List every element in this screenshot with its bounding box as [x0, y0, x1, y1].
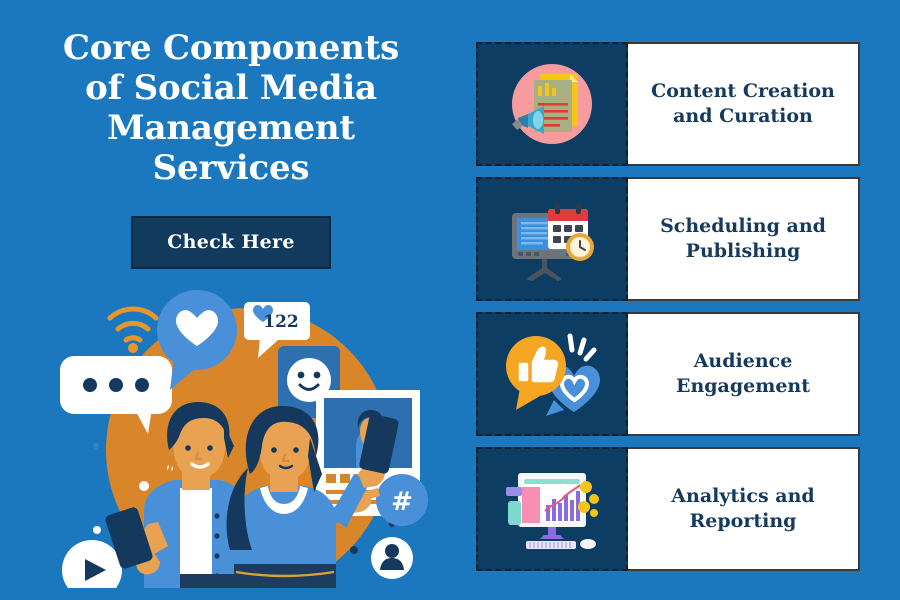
card-label-line-1: Scheduling and: [660, 215, 826, 237]
card-label-line-1: Content Creation: [651, 80, 835, 102]
analytics-dashboard-icon: [476, 447, 628, 571]
mouse-icon: [580, 539, 596, 549]
hashtag-label: #: [391, 487, 413, 517]
side-block-purple: [506, 487, 522, 496]
left-column: Core Components of Social Media Manageme…: [0, 0, 462, 600]
page-title-line-2: of Social Media: [24, 68, 438, 108]
user-profile-circle-icon: [371, 537, 413, 579]
like-count-label: 122: [263, 312, 299, 332]
page-title-line-1: Core Components: [24, 28, 438, 68]
check-here-button[interactable]: Check Here: [131, 216, 331, 269]
card-label-content-creation: Content Creation and Curation: [628, 42, 860, 166]
card-label-line-2: Publishing: [660, 239, 826, 264]
wifi-icon: [110, 309, 156, 340]
card-label-analytics-reporting: Analytics and Reporting: [628, 447, 860, 571]
component-cards-list: Content Creation and Curation: [476, 42, 860, 571]
wifi-dot: [128, 343, 138, 353]
card-label-line-2: and Curation: [651, 104, 835, 129]
card-label-line-2: Reporting: [671, 509, 814, 534]
pink-panel: [522, 487, 540, 523]
thumbs-up-heart-bubble-icon: [476, 312, 628, 436]
card-label-line-2: Engagement: [676, 374, 810, 399]
hashtag-circle-icon: #: [376, 474, 428, 526]
coin-icon: [578, 501, 590, 513]
card-label-audience-engagement: Audience Engagement: [628, 312, 860, 436]
page-title-line-3: Management: [24, 108, 438, 148]
coin-icon: [590, 509, 598, 517]
thumbs-up-bubble-icon: [506, 336, 566, 410]
card-audience-engagement[interactable]: Audience Engagement: [476, 312, 860, 436]
coin-icon: [580, 481, 592, 493]
sparkle-icon: [570, 336, 594, 359]
play-button-icon: [62, 540, 122, 588]
side-block-teal: [508, 501, 521, 525]
infographic-canvas: Core Components of Social Media Manageme…: [0, 0, 900, 600]
social-media-users-illustration: 122: [52, 278, 442, 588]
card-analytics-reporting[interactable]: Analytics and Reporting: [476, 447, 860, 571]
coin-icon: [589, 494, 599, 504]
card-label-line-1: Audience: [694, 350, 793, 372]
card-content-creation[interactable]: Content Creation and Curation: [476, 42, 860, 166]
page-title: Core Components of Social Media Manageme…: [24, 28, 438, 188]
cta-container: Check Here: [0, 216, 462, 269]
megaphone-document-icon: [476, 42, 628, 166]
card-label-scheduling-publishing: Scheduling and Publishing: [628, 177, 860, 301]
card-scheduling-publishing[interactable]: Scheduling and Publishing: [476, 177, 860, 301]
monitor-calendar-clock-icon: [476, 177, 628, 301]
card-label-line-1: Analytics and: [671, 485, 814, 507]
page-title-line-4: Services: [24, 148, 438, 188]
